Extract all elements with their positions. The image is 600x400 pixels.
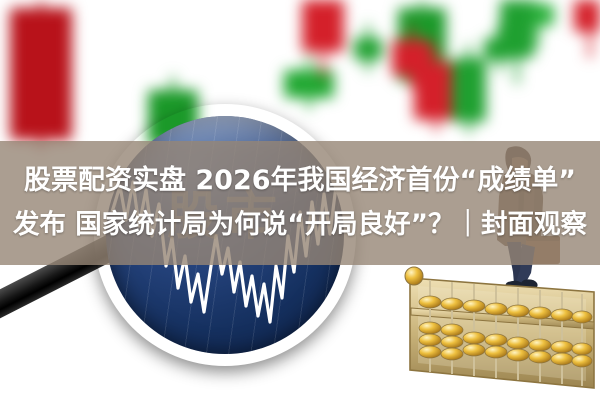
headline-band: 股票配资实盘 2026年我国经济首份“成绩单” 发布 国家统计局为何说“开局良好… — [0, 141, 600, 265]
abacus — [398, 262, 600, 400]
candlestick-body — [452, 58, 486, 122]
candlestick-body — [500, 0, 534, 58]
headline-line-1: 股票配资实盘 2026年我国经济首份“成绩单” — [24, 159, 576, 203]
headline-line-2: 发布 国家统计局为何说“开局良好”？｜封面观察 — [13, 203, 587, 247]
candlestick-body — [302, 0, 344, 52]
candlestick-body — [10, 8, 72, 140]
article-cover-image: 股市 — [0, 0, 600, 400]
candlestick-body — [354, 38, 382, 60]
candlestick-body — [574, 0, 600, 32]
candlestick-body — [284, 70, 334, 98]
